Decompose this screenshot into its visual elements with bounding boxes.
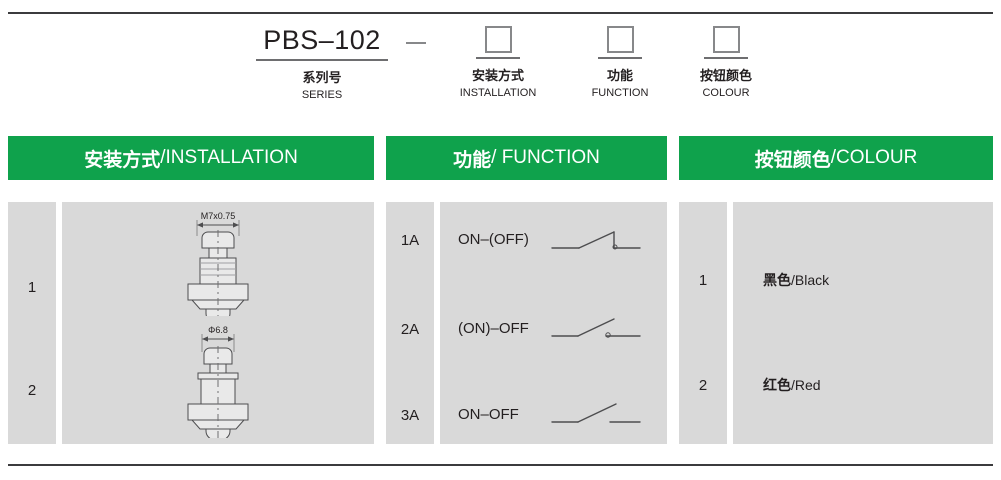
function-body: ON–(OFF) (ON)–OFF xyxy=(440,202,667,444)
decoder-separator xyxy=(398,24,434,44)
function-code-box[interactable] xyxy=(607,26,634,53)
function-row-code-3A: 3A xyxy=(386,407,434,424)
colour-code-box[interactable] xyxy=(713,26,740,53)
colour-index-column: 1 2 xyxy=(679,202,727,444)
decoder-field-function[interactable]: 功能 FUNCTION xyxy=(570,24,670,100)
installation-drawing-2: Φ6.8 xyxy=(158,320,278,443)
section-header-function: 功能/ FUNCTION xyxy=(386,136,667,180)
function-label-cn: 功能 xyxy=(570,68,670,84)
series-label-cn: 系列号 xyxy=(252,70,392,86)
switch-symbol-momentary-no-closed-icon xyxy=(548,225,653,253)
decoder-field-installation[interactable]: 安装方式 INSTALLATION xyxy=(438,24,558,100)
colour-row-code-1: 1 xyxy=(679,272,727,289)
function-underline xyxy=(598,57,642,59)
installation-label-cn: 安装方式 xyxy=(438,68,558,84)
installation-body: M7x0.75 xyxy=(62,202,374,444)
installation-row-code-2: 2 xyxy=(8,382,56,399)
colour-name-en-black: /Black xyxy=(791,272,829,288)
colour-body: 黑色 /Black 红色 /Red xyxy=(733,202,993,444)
installation-drawing-1: M7x0.75 xyxy=(158,206,278,321)
installation-label-en: INSTALLATION xyxy=(438,86,558,100)
colour-label-cn: 按钮颜色 xyxy=(680,68,772,84)
function-row-1A: ON–(OFF) xyxy=(440,225,667,253)
installation-code-box[interactable] xyxy=(485,26,512,53)
function-row-2A: (ON)–OFF xyxy=(440,314,667,342)
colour-name-cn-red: 红色 xyxy=(763,375,791,395)
series-code: PBS–102 xyxy=(252,24,392,56)
part-number-decoder: PBS–102 系列号 SERIES 安装方式 INSTALLATION 功能 … xyxy=(252,24,772,112)
section-header-function-cn: 功能 xyxy=(453,145,491,172)
colour-row-code-2: 2 xyxy=(679,377,727,394)
section-header-installation-en: /INSTALLATION xyxy=(160,147,298,169)
section-header-colour-cn: 按钮颜色 xyxy=(755,145,831,172)
function-label-en: FUNCTION xyxy=(570,86,670,100)
section-header-function-en: / FUNCTION xyxy=(491,147,600,169)
colour-label-en: COLOUR xyxy=(680,86,772,100)
decoder-field-series: PBS–102 系列号 SERIES xyxy=(252,24,392,102)
function-row-code-1A: 1A xyxy=(386,232,434,249)
dash-icon xyxy=(406,42,426,44)
colour-row-red: 红色 /Red xyxy=(733,375,993,395)
switch-symbol-momentary-no-open-icon xyxy=(548,314,653,342)
section-header-installation-cn: 安装方式 xyxy=(84,145,160,172)
bottom-divider-rule xyxy=(8,464,993,466)
installation-row-code-1: 1 xyxy=(8,279,56,296)
function-label-2A: (ON)–OFF xyxy=(440,320,548,337)
section-header-installation: 安装方式/INSTALLATION xyxy=(8,136,374,180)
function-label-1A: ON–(OFF) xyxy=(440,231,548,248)
installation-index-column: 1 2 xyxy=(8,202,56,444)
colour-row-black: 黑色 /Black xyxy=(733,270,993,290)
installation-dimension-1: M7x0.75 xyxy=(201,211,236,221)
function-row-code-2A: 2A xyxy=(386,321,434,338)
colour-name-cn-black: 黑色 xyxy=(763,270,791,290)
top-divider-rule xyxy=(8,12,993,14)
series-label-en: SERIES xyxy=(252,88,392,102)
installation-underline xyxy=(476,57,520,59)
colour-underline xyxy=(704,57,748,59)
switch-symbol-latching-spst-icon xyxy=(548,400,653,428)
decoder-field-colour[interactable]: 按钮颜色 COLOUR xyxy=(680,24,772,100)
section-header-colour-en: /COLOUR xyxy=(831,147,918,169)
function-index-column: 1A 2A 3A xyxy=(386,202,434,444)
colour-name-en-red: /Red xyxy=(791,377,821,393)
installation-dimension-2: Φ6.8 xyxy=(208,325,228,335)
series-underline xyxy=(256,59,388,61)
function-row-3A: ON–OFF xyxy=(440,400,667,428)
section-header-colour: 按钮颜色/COLOUR xyxy=(679,136,993,180)
function-label-3A: ON–OFF xyxy=(440,406,548,423)
